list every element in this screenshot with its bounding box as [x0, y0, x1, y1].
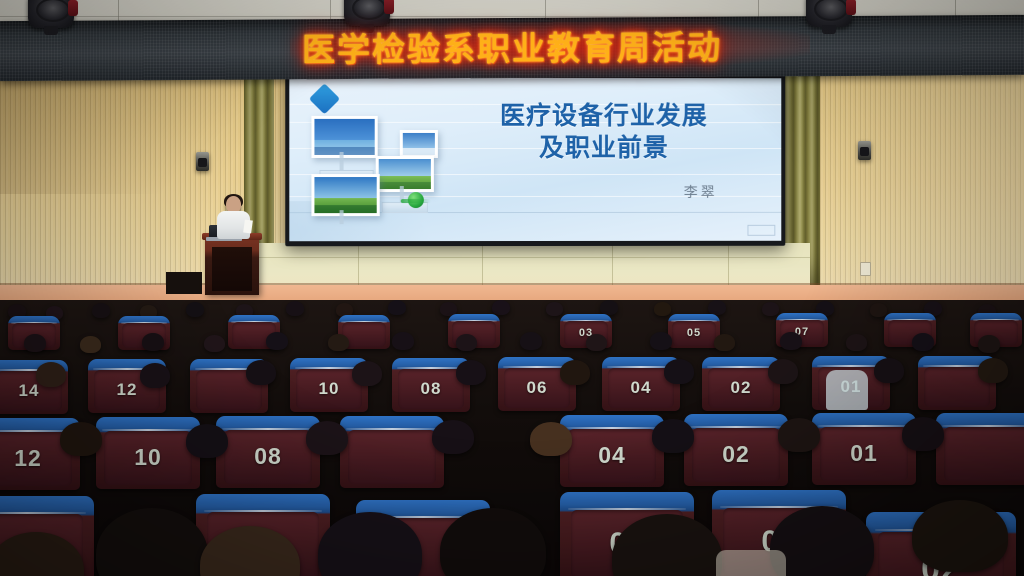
seat[interactable] — [340, 416, 444, 488]
seat-number: 04 — [560, 442, 664, 469]
audience-head — [912, 333, 934, 351]
audience-head — [96, 508, 208, 576]
seat[interactable]: 05 — [668, 314, 720, 348]
audience-head — [142, 333, 164, 351]
slide-photo-card — [400, 130, 438, 158]
audience-head — [650, 332, 672, 350]
slide-photo-card — [311, 116, 377, 158]
audience-head — [546, 302, 563, 316]
audience-head — [456, 334, 477, 351]
audience-head — [60, 422, 102, 456]
seat[interactable]: 02 — [702, 357, 780, 411]
audience-head — [600, 300, 618, 315]
audience-head — [652, 419, 694, 453]
seat-number: 08 — [216, 443, 320, 470]
slide-title: 医疗设备行业发展 及职业前景 — [440, 100, 767, 164]
audience-head — [912, 500, 1008, 572]
seat[interactable]: 01 — [812, 413, 916, 485]
slide-title-line2: 及职业前景 — [440, 132, 767, 164]
diamond-accent-icon — [309, 83, 340, 114]
audience-head — [870, 303, 887, 317]
auditorium-photo: 医学检验系职业教育周活动 — [0, 0, 1024, 576]
card-stand — [340, 210, 344, 224]
slide-photo-card — [376, 156, 434, 192]
slide-surface: 医疗设备行业发展 及职业前景 李翠 — [289, 78, 781, 241]
led-banner-text: 医学检验系职业教育周活动 — [0, 21, 1024, 71]
audience-head — [780, 332, 802, 350]
audience-head — [352, 361, 382, 386]
stage-light-icon — [28, 0, 74, 28]
audience-head — [492, 300, 510, 315]
slide-title-line1: 医疗设备行业发展 — [440, 100, 767, 132]
audience-head — [392, 332, 414, 350]
audience-head — [560, 360, 590, 385]
audience-head — [24, 334, 46, 352]
audience-head — [456, 360, 486, 385]
audience-head — [664, 359, 694, 384]
audience-head — [530, 422, 572, 456]
audience-head — [978, 358, 1008, 383]
projection-screen: 医疗设备行业发展 及职业前景 李翠 — [285, 74, 785, 247]
audience-head — [306, 421, 348, 455]
audience-head — [266, 332, 288, 350]
audience-head — [714, 334, 735, 351]
seat[interactable]: 04 — [560, 415, 664, 487]
audience-head — [328, 334, 349, 351]
wall-outlet-right[interactable] — [860, 262, 871, 276]
audience-head — [80, 336, 101, 353]
slide-corner-mark — [747, 225, 775, 236]
audience-head — [768, 359, 798, 384]
side-door[interactable] — [166, 272, 202, 294]
audience-head — [186, 302, 204, 317]
audience-seating: 03 05 07 14 12 10 08 06 04 02 01 — [0, 300, 1024, 576]
seat-number: 02 — [684, 441, 788, 468]
seat[interactable]: 10 — [96, 417, 200, 489]
audience-head — [246, 360, 276, 385]
podium — [205, 233, 259, 295]
audience-head — [708, 300, 726, 315]
presenter — [216, 196, 250, 238]
audience-head — [388, 300, 406, 315]
audience-head — [204, 335, 225, 352]
seat-number: 10 — [96, 444, 200, 471]
wall-speaker-left — [196, 152, 209, 171]
audience-head — [902, 417, 944, 451]
audience-shirt — [826, 370, 868, 410]
slide-author: 李翠 — [684, 182, 718, 202]
seat[interactable] — [936, 413, 1024, 485]
audience-head — [586, 334, 607, 351]
audience-head — [36, 362, 66, 387]
audience-head — [92, 303, 110, 318]
seat[interactable]: 08 — [216, 416, 320, 488]
wall-speaker-right — [858, 141, 871, 160]
seat-number: 05 — [668, 327, 720, 339]
audience-head — [978, 335, 1000, 353]
seat-number: 01 — [812, 440, 916, 467]
audience-head — [520, 332, 542, 350]
audience-head — [432, 420, 474, 454]
audience-head — [874, 358, 904, 383]
audience-head — [186, 424, 228, 458]
audience-head — [846, 334, 867, 351]
audience-head — [140, 363, 170, 388]
audience-head — [778, 418, 820, 452]
card-stand — [340, 152, 344, 170]
green-globe-icon — [408, 192, 424, 208]
slide-photo-card — [311, 174, 379, 216]
audience-head — [654, 302, 671, 316]
seat-number: 02 — [702, 378, 780, 398]
audience-head — [286, 301, 304, 316]
audience-head — [762, 302, 779, 316]
audience-shirt — [716, 550, 786, 576]
seat[interactable]: 02 — [684, 414, 788, 486]
